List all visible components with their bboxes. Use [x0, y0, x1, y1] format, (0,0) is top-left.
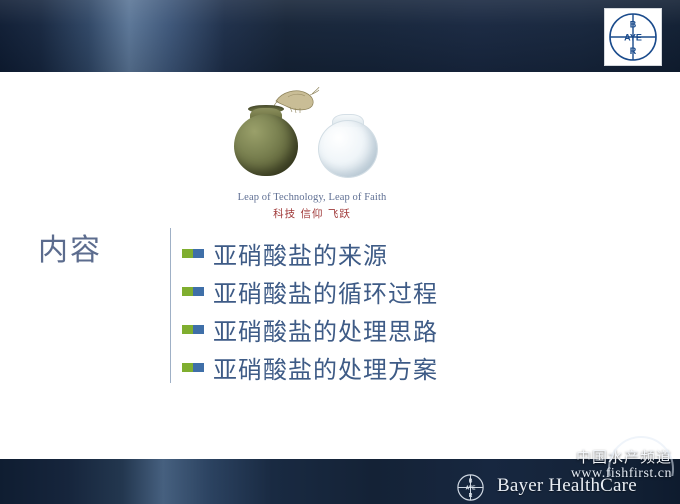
- artwork: Leap of Technology, Leap of Faith 科技 信仰 …: [222, 84, 402, 219]
- svg-text:R: R: [630, 46, 637, 56]
- svg-text:AYE: AYE: [466, 486, 476, 492]
- list-item[interactable]: 亚硝酸盐的处理方案: [182, 348, 622, 386]
- footer-bayer-logo: B AYE R: [457, 474, 493, 501]
- list-item[interactable]: 亚硝酸盐的循环过程: [182, 272, 622, 310]
- slide: B AYE R Leap of Technology, Leap of Fait…: [0, 0, 680, 504]
- content-list: 亚硝酸盐的来源 亚硝酸盐的循环过程 亚硝酸盐的处理思路 亚硝酸盐的处理方案: [182, 234, 622, 386]
- clear-jar-icon: [318, 120, 378, 178]
- page-title: 内容: [38, 225, 102, 269]
- top-banner-sheen: [0, 0, 680, 72]
- top-banner: [0, 0, 680, 72]
- bayer-cross-logo-icon: B AYE R: [608, 12, 658, 62]
- bullet-marker-icon: [182, 287, 204, 296]
- bayer-cross-logo-icon: B AYE R: [457, 474, 493, 501]
- green-jar-icon: [234, 114, 298, 176]
- list-item[interactable]: 亚硝酸盐的来源: [182, 234, 622, 272]
- bullet-marker-icon: [182, 325, 204, 334]
- svg-text:R: R: [469, 493, 473, 499]
- svg-text:AYE: AYE: [624, 33, 642, 43]
- list-item-label: 亚硝酸盐的处理方案: [213, 350, 438, 385]
- bullet-marker-icon: [182, 363, 204, 372]
- list-divider: [170, 228, 171, 383]
- bayer-logo: B AYE R: [604, 8, 662, 66]
- list-item-label: 亚硝酸盐的循环过程: [213, 274, 438, 309]
- artwork-caption-cn: 科技 信仰 飞跃: [222, 206, 402, 221]
- svg-text:B: B: [630, 20, 637, 30]
- bullet-marker-icon: [182, 249, 204, 258]
- list-item-label: 亚硝酸盐的来源: [213, 236, 388, 271]
- svg-text:B: B: [469, 479, 473, 485]
- artwork-caption-en: Leap of Technology, Leap of Faith: [222, 192, 402, 203]
- list-item-label: 亚硝酸盐的处理思路: [213, 312, 438, 347]
- list-item[interactable]: 亚硝酸盐的处理思路: [182, 310, 622, 348]
